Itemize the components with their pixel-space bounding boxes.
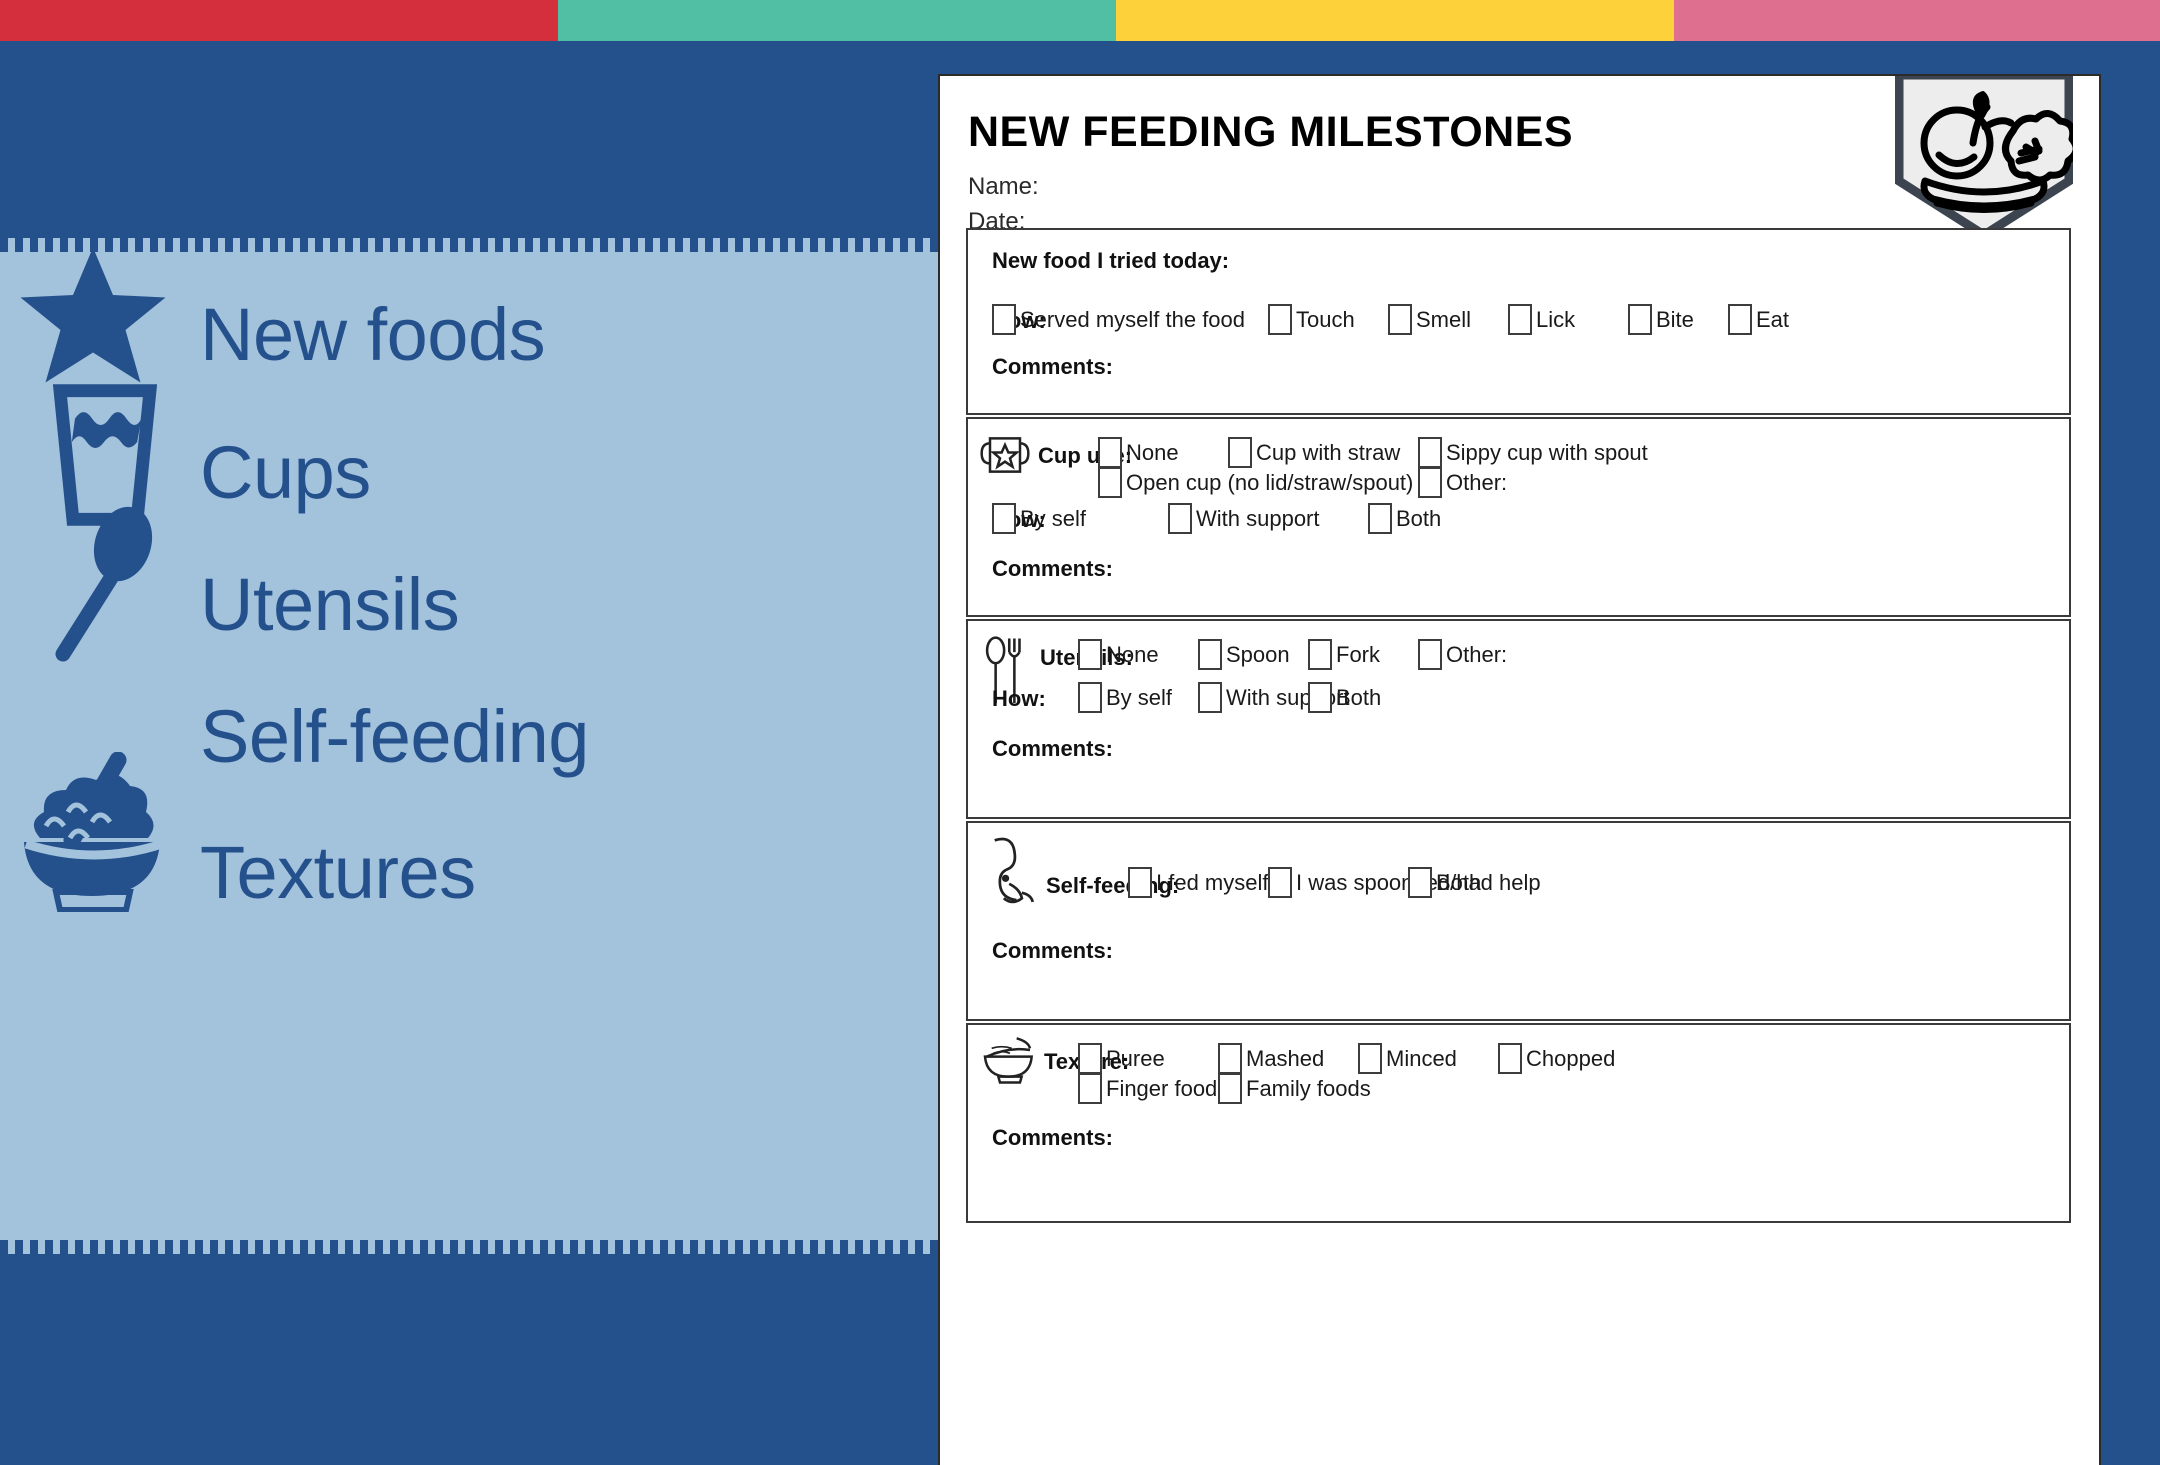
checkbox-label: I fed myself [1156, 870, 1268, 896]
checkbox-label: Touch [1296, 307, 1355, 333]
dot [750, 1240, 758, 1254]
checkbox[interactable] [992, 503, 1016, 534]
dot [735, 238, 743, 252]
checkbox-option[interactable]: Finger foods [1078, 1073, 1228, 1104]
checkbox-option[interactable]: Eat [1728, 304, 1789, 335]
dot [120, 1240, 128, 1254]
dot [315, 1240, 323, 1254]
dot [285, 1240, 293, 1254]
checkbox-label: Chopped [1526, 1046, 1615, 1072]
dot [105, 1240, 113, 1254]
checkbox-option[interactable]: By self [992, 503, 1086, 534]
dot [630, 1240, 638, 1254]
dot [735, 1240, 743, 1254]
feature-label-textures: Textures [200, 830, 476, 915]
dot [480, 238, 488, 252]
checkbox[interactable] [1098, 437, 1122, 468]
dot [900, 1240, 908, 1254]
dot [915, 1240, 923, 1254]
checkbox-label: By self [1020, 506, 1086, 532]
checkbox-option[interactable]: Lick [1508, 304, 1575, 335]
dot [510, 1240, 518, 1254]
dot [570, 238, 578, 252]
bowl-with-spoon-icon [980, 1035, 1040, 1090]
checkbox-label: Both [1436, 870, 1481, 896]
checkbox[interactable] [1308, 682, 1332, 713]
checkbox-option[interactable]: Open cup (no lid/straw/spout) [1098, 467, 1413, 498]
checkbox-option[interactable]: Puree [1078, 1043, 1165, 1074]
checkbox[interactable] [1508, 304, 1532, 335]
feature-label-new-foods: New foods [200, 292, 545, 377]
dot [420, 238, 428, 252]
dot [465, 238, 473, 252]
checkbox-label: Cup with straw [1256, 440, 1400, 466]
checkbox-label: By self [1106, 685, 1172, 711]
checkbox-option[interactable]: Bite [1628, 304, 1694, 335]
ribbon-segment-pink [1674, 0, 2160, 41]
dot [0, 1240, 8, 1254]
dot [765, 1240, 773, 1254]
checkbox-label: None [1106, 642, 1159, 668]
bowl-with-spoon-icon [10, 752, 180, 912]
dot [180, 238, 188, 252]
checkbox[interactable] [1198, 639, 1222, 670]
dot [675, 238, 683, 252]
dot [15, 1240, 23, 1254]
dot [345, 238, 353, 252]
dot [375, 238, 383, 252]
spoon-icon [18, 504, 188, 674]
section-self-feeding: Self-feeding:I fed myselfI was spoon fed… [966, 821, 2071, 1021]
checkbox[interactable] [1418, 437, 1442, 468]
dot [375, 1240, 383, 1254]
dot [30, 1240, 38, 1254]
dot [390, 238, 398, 252]
dot [885, 238, 893, 252]
checkbox-label: Family foods [1246, 1076, 1371, 1102]
checkbox-label: Smell [1416, 307, 1471, 333]
checkbox[interactable] [1308, 639, 1332, 670]
dot [795, 1240, 803, 1254]
sippy-cup-icon [980, 433, 1030, 482]
comments-label: Comments: [992, 736, 1113, 762]
checkbox-label: Eat [1756, 307, 1789, 333]
dot [885, 1240, 893, 1254]
dot [0, 238, 8, 252]
dot [660, 238, 668, 252]
dot [195, 1240, 203, 1254]
worksheet-document: NEW FEEDING MILESTONES Name: Date: [938, 74, 2101, 1465]
checkbox[interactable] [1168, 503, 1192, 534]
checkbox-label: Puree [1106, 1046, 1165, 1072]
checkbox-option[interactable]: I fed myself [1128, 867, 1268, 898]
feature-label-utensils: Utensils [200, 562, 459, 647]
dot [570, 1240, 578, 1254]
dot [270, 238, 278, 252]
dot [615, 238, 623, 252]
dot [45, 1240, 53, 1254]
checkbox[interactable] [1498, 1043, 1522, 1074]
checkbox[interactable] [1218, 1073, 1242, 1104]
comments-label: Comments: [992, 354, 1113, 380]
dot [495, 238, 503, 252]
checkbox[interactable] [1418, 639, 1442, 670]
feature-label-self-feeding: Self-feeding [200, 694, 589, 779]
dot [330, 238, 338, 252]
dot [300, 238, 308, 252]
section-new-food: New food I tried today:How:Served myself… [966, 228, 2071, 415]
child-feeding-icon [982, 833, 1040, 916]
checkbox-option[interactable]: Fork [1308, 639, 1380, 670]
dot [60, 1240, 68, 1254]
checkbox-option[interactable]: Touch [1268, 304, 1355, 335]
checkbox[interactable] [1728, 304, 1752, 335]
dot [615, 1240, 623, 1254]
dot [600, 1240, 608, 1254]
checkbox-label: Both [1336, 685, 1381, 711]
dot [900, 238, 908, 252]
dot [225, 238, 233, 252]
dot [300, 1240, 308, 1254]
dot [540, 1240, 548, 1254]
dot [465, 1240, 473, 1254]
checkbox-option[interactable]: Served myself the food [992, 304, 1245, 335]
top-color-ribbon [0, 0, 2160, 41]
checkbox-label: Sippy cup with spout [1446, 440, 1648, 466]
dot [510, 238, 518, 252]
dot [390, 1240, 398, 1254]
dot [240, 1240, 248, 1254]
checkbox-label: Other: [1446, 470, 1507, 496]
checkbox-option[interactable]: Smell [1388, 304, 1471, 335]
dot [720, 238, 728, 252]
dot [585, 238, 593, 252]
checkbox-label: Mashed [1246, 1046, 1324, 1072]
dot [600, 238, 608, 252]
dot [765, 238, 773, 252]
checkbox-label: Finger foods [1106, 1076, 1228, 1102]
dot [90, 1240, 98, 1254]
checkbox[interactable] [1408, 867, 1432, 898]
dot [330, 1240, 338, 1254]
dot [705, 238, 713, 252]
dot [855, 238, 863, 252]
checkbox[interactable] [1218, 1043, 1242, 1074]
dotted-rule-bottom [0, 1240, 940, 1254]
dot [660, 1240, 668, 1254]
dot [810, 238, 818, 252]
checkbox-option[interactable]: Spoon [1198, 639, 1290, 670]
checkbox-option[interactable]: Both [1408, 867, 1481, 898]
dot [810, 1240, 818, 1254]
checkbox[interactable] [992, 304, 1016, 335]
comments-label: Comments: [992, 556, 1113, 582]
checkbox[interactable] [1358, 1043, 1382, 1074]
checkbox-option[interactable]: None [1098, 437, 1179, 468]
dot [480, 1240, 488, 1254]
dot [630, 238, 638, 252]
dot [645, 1240, 653, 1254]
dot [195, 238, 203, 252]
feature-list: New foodsCupsUtensilsSelf-feedingTexture… [0, 252, 940, 1240]
checkbox-label: Minced [1386, 1046, 1457, 1072]
dot [825, 238, 833, 252]
checkbox-option[interactable]: Chopped [1498, 1043, 1615, 1074]
name-field-label: Name: [968, 173, 1039, 201]
dot [360, 238, 368, 252]
dot [780, 238, 788, 252]
dot [720, 1240, 728, 1254]
checkbox-option[interactable]: I was spoon fed/had help [1268, 867, 1541, 898]
dot [75, 1240, 83, 1254]
dot [135, 1240, 143, 1254]
ribbon-segment-yellow [1116, 0, 1674, 41]
section-texture: Texture:PureeMashedMincedChoppedFinger f… [966, 1023, 2071, 1223]
checkbox-option[interactable]: Other: [1418, 467, 1507, 498]
checkbox[interactable] [1198, 682, 1222, 713]
section-utensils: Utensils:NoneSpoonForkOther:How:By selfW… [966, 619, 2071, 819]
feature-panel: New foodsCupsUtensilsSelf-feedingTexture… [0, 238, 940, 1254]
dot [930, 1240, 938, 1254]
dot [225, 1240, 233, 1254]
checkbox-label: None [1126, 440, 1179, 466]
dot [690, 1240, 698, 1254]
dot [240, 238, 248, 252]
checkbox-option[interactable]: Other: [1418, 639, 1507, 670]
dot [270, 1240, 278, 1254]
checkbox-label: Served myself the food [1020, 307, 1245, 333]
dot [840, 1240, 848, 1254]
dot [870, 238, 878, 252]
section-prompt: New food I tried today: [992, 248, 1229, 274]
comments-label: Comments: [992, 938, 1113, 964]
checkbox-option[interactable]: By self [1078, 682, 1172, 713]
dot [210, 1240, 218, 1254]
dot [450, 238, 458, 252]
dot [840, 238, 848, 252]
dot [165, 1240, 173, 1254]
dot [420, 1240, 428, 1254]
checkbox[interactable] [1078, 682, 1102, 713]
dot [915, 238, 923, 252]
dot [450, 1240, 458, 1254]
dot [825, 1240, 833, 1254]
dot [495, 1240, 503, 1254]
dot [795, 238, 803, 252]
checkbox[interactable] [1078, 639, 1102, 670]
dot [690, 238, 698, 252]
dot [435, 238, 443, 252]
checkbox[interactable] [1128, 867, 1152, 898]
checkbox[interactable] [1388, 304, 1412, 335]
dot [180, 1240, 188, 1254]
checkbox-label: Spoon [1226, 642, 1290, 668]
checkbox-label: Fork [1336, 642, 1380, 668]
checkbox[interactable] [1078, 1073, 1102, 1104]
checkbox-option[interactable]: Minced [1358, 1043, 1457, 1074]
dot [555, 1240, 563, 1254]
dot [525, 238, 533, 252]
checkbox[interactable] [1078, 1043, 1102, 1074]
dot [150, 1240, 158, 1254]
dot [255, 238, 263, 252]
checkbox-label: Open cup (no lid/straw/spout) [1126, 470, 1413, 496]
dot [315, 238, 323, 252]
checkbox-label: Bite [1656, 307, 1694, 333]
ribbon-segment-red [0, 0, 558, 41]
checkbox-option[interactable]: With support [1168, 503, 1320, 534]
dot [645, 238, 653, 252]
dot [255, 1240, 263, 1254]
dot [405, 1240, 413, 1254]
checkbox-label: With support [1196, 506, 1320, 532]
checkbox[interactable] [1418, 467, 1442, 498]
section-cup-use: Cup use:NoneCup with strawSippy cup with… [966, 417, 2071, 617]
dot [345, 1240, 353, 1254]
checkbox-option[interactable]: Both [1308, 682, 1381, 713]
dot [360, 1240, 368, 1254]
dot [405, 238, 413, 252]
checkbox[interactable] [1368, 503, 1392, 534]
checkbox-option[interactable]: Sippy cup with spout [1418, 437, 1648, 468]
checkbox[interactable] [1098, 467, 1122, 498]
checkbox-option[interactable]: Both [1368, 503, 1441, 534]
dot [855, 1240, 863, 1254]
checkbox[interactable] [1228, 437, 1252, 468]
feature-label-cups: Cups [200, 430, 371, 515]
dot [540, 238, 548, 252]
ribbon-segment-teal [558, 0, 1116, 41]
checkbox-option[interactable]: Mashed [1218, 1043, 1324, 1074]
checkbox-label: Lick [1536, 307, 1575, 333]
dot [930, 238, 938, 252]
apple-and-broccoli-plate-badge [1895, 74, 2073, 239]
checkbox-option[interactable]: Family foods [1218, 1073, 1371, 1104]
checkbox[interactable] [1628, 304, 1652, 335]
dot [870, 1240, 878, 1254]
dot [750, 238, 758, 252]
checkbox[interactable] [1268, 304, 1292, 335]
checkbox-label: Other: [1446, 642, 1507, 668]
dot [435, 1240, 443, 1254]
checkbox[interactable] [1268, 867, 1292, 898]
dot [525, 1240, 533, 1254]
checkbox-option[interactable]: None [1078, 639, 1159, 670]
checkbox-option[interactable]: Cup with straw [1228, 437, 1400, 468]
dot [585, 1240, 593, 1254]
dot [705, 1240, 713, 1254]
dot [675, 1240, 683, 1254]
dot [285, 238, 293, 252]
row-label-how: How: [992, 686, 1046, 712]
star-icon [8, 240, 178, 390]
dot [780, 1240, 788, 1254]
checkbox-label: Both [1396, 506, 1441, 532]
dot [555, 238, 563, 252]
dot [210, 238, 218, 252]
comments-label: Comments: [992, 1125, 1113, 1151]
page-title: NEW FEEDING MILESTONES [968, 108, 1573, 157]
